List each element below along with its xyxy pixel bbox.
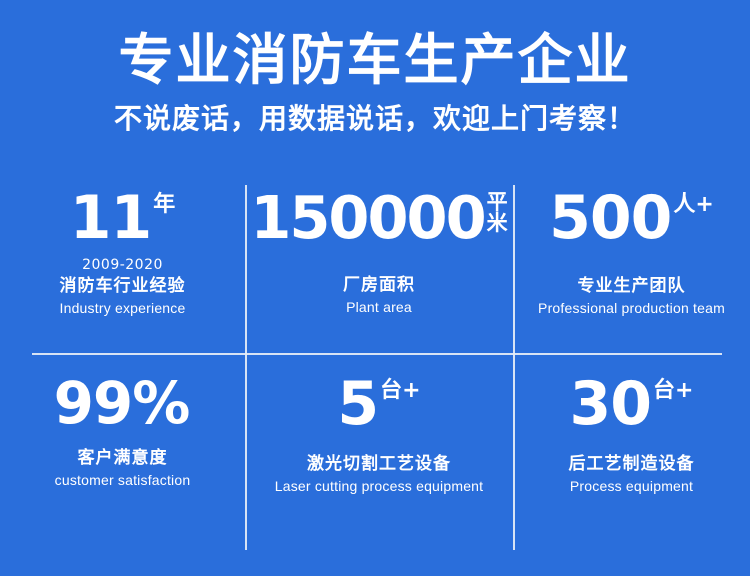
stat-figure: 99% (54, 376, 192, 432)
stat-unit-bottom: 米 (487, 213, 508, 234)
stat-unit: 台+ (653, 376, 693, 402)
stat-unit: 人+ (673, 190, 713, 216)
stat-cell-production-team: 500 人+ 专业生产团队 Professional production te… (513, 178, 750, 354)
stat-unit-top: 平 (487, 192, 508, 213)
stat-label-en: Professional production team (538, 300, 725, 317)
stat-label-en: Laser cutting process equipment (275, 478, 484, 495)
stat-number: 150000 (250, 190, 484, 247)
stat-cell-process-equipment: 30 台+ 后工艺制造设备 Process equipment (513, 354, 750, 530)
stat-label-cn: 客户满意度 (78, 448, 168, 468)
stats-grid: 11 年 2009-2020 消防车行业经验 Industry experien… (0, 178, 750, 558)
stat-unit: 平 米 (487, 190, 508, 234)
stat-unit: 年 (153, 190, 175, 216)
stat-number: 5 (337, 376, 378, 434)
stat-figure: 11 年 (70, 190, 176, 248)
stat-figure: 30 台+ (570, 376, 694, 434)
stat-figure: 150000 平 米 (250, 190, 507, 247)
stat-unit: 台+ (380, 376, 420, 402)
stat-figure: 5 台+ (337, 376, 420, 434)
stat-label-cn: 激光切割工艺设备 (307, 454, 451, 474)
stat-cell-plant-area: 150000 平 米 厂房面积 Plant area (245, 178, 513, 354)
stat-label-en: customer satisfaction (55, 472, 191, 489)
stat-figure: 500 人+ (549, 190, 714, 248)
promo-banner: 专业消防车生产企业 不说废话，用数据说话，欢迎上门考察！ 11 年 2009-2… (0, 0, 750, 576)
stat-year-range: 2009-2020 (82, 258, 163, 273)
stat-label-cn: 专业生产团队 (578, 276, 686, 296)
stat-cell-laser-equipment: 5 台+ 激光切割工艺设备 Laser cutting process equi… (245, 354, 513, 530)
stat-label-en: Plant area (346, 299, 412, 316)
stat-number: 99% (54, 376, 190, 432)
stat-label-en: Process equipment (570, 478, 693, 495)
page-subtitle: 不说废话，用数据说话，欢迎上门考察！ (0, 91, 750, 136)
page-title: 专业消防车生产企业 (0, 0, 750, 91)
stat-number: 30 (570, 376, 652, 434)
stat-label-cn: 消防车行业经验 (60, 276, 186, 296)
stat-cell-experience: 11 年 2009-2020 消防车行业经验 Industry experien… (0, 178, 245, 354)
stat-label-cn: 后工艺制造设备 (569, 454, 695, 474)
stat-number: 500 (549, 190, 671, 248)
stat-label-cn: 厂房面积 (343, 275, 415, 295)
stat-number: 11 (70, 190, 152, 248)
stat-cell-satisfaction: 99% 客户满意度 customer satisfaction (0, 354, 245, 530)
stat-label-en: Industry experience (60, 300, 186, 317)
banner-header: 专业消防车生产企业 不说废话，用数据说话，欢迎上门考察！ (0, 0, 750, 136)
